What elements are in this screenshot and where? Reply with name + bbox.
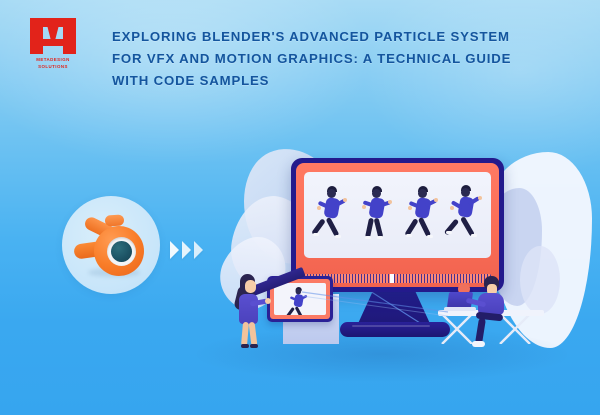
preview-screen-display — [274, 283, 326, 315]
runner-hand-front — [343, 198, 347, 202]
runner-leg-back — [286, 307, 295, 315]
blender-icon-eye — [111, 241, 132, 262]
logo-wordmark-line1: METADESIGN — [22, 57, 84, 64]
character-designer — [228, 274, 272, 352]
logo-stem-left — [30, 18, 43, 54]
animation-runner-2 — [363, 186, 397, 246]
runner-hand-front — [478, 196, 482, 200]
runner-head — [327, 189, 336, 198]
logo-stem-right — [63, 18, 76, 54]
blender-icon — [74, 212, 148, 278]
designer-hand — [265, 298, 271, 304]
runner-hand-back — [317, 206, 321, 210]
banner-title: EXPLORING BLENDER'S ADVANCED PARTICLE SY… — [112, 26, 512, 92]
runner-shoe-front — [427, 235, 433, 238]
runner-leg-front — [326, 217, 340, 237]
designer-shoe-left — [241, 344, 249, 348]
monitor-base-highlight — [352, 325, 430, 327]
runner-hand-front — [388, 200, 392, 204]
runner-head — [418, 189, 427, 198]
runner-hand-back — [408, 206, 412, 210]
logo-bar-middle — [42, 39, 64, 46]
blog-banner: METADESIGN SOLUTIONS EXPLORING BLENDER'S… — [0, 0, 600, 415]
runner-shoe-back — [365, 236, 371, 239]
chevron-right-icon-2 — [182, 241, 191, 259]
preview-runner — [290, 287, 311, 315]
designer-face — [245, 280, 256, 293]
logo-wordmark: METADESIGN SOLUTIONS — [22, 57, 84, 71]
runner-shoe-back — [406, 234, 412, 237]
chevron-right-icon-3 — [194, 241, 203, 259]
timeline-playhead[interactable] — [390, 274, 394, 283]
flow-arrows — [170, 241, 203, 259]
banner-header: METADESIGN SOLUTIONS EXPLORING BLENDER'S… — [0, 0, 600, 110]
character-developer — [468, 276, 520, 348]
runner-torso — [368, 197, 385, 219]
blender-logo-badge — [62, 196, 160, 294]
runner-hand-front — [434, 198, 438, 202]
main-monitor — [291, 158, 504, 292]
animation-runner-3 — [409, 186, 443, 246]
blender-icon-tip — [105, 214, 125, 226]
designer-shoe-right — [250, 344, 258, 348]
designer-leg-right — [249, 322, 258, 347]
runner-shoe-front — [471, 234, 477, 237]
monitor-screen — [304, 172, 491, 258]
runner-leg-front — [295, 306, 304, 315]
developer-shoe — [472, 341, 485, 347]
runner-hand-back — [362, 205, 366, 209]
logo-monogram-icon — [29, 18, 77, 54]
designer-leg-left — [241, 322, 249, 346]
decor-blob-periwinkle-small — [520, 246, 560, 314]
runner-hand-back — [450, 206, 454, 210]
runner-head — [461, 188, 470, 197]
runner-shoe-front — [335, 235, 341, 238]
animation-runner-1 — [318, 186, 352, 246]
brand-logo[interactable]: METADESIGN SOLUTIONS — [22, 18, 84, 74]
runner-shoe-back — [446, 231, 452, 234]
runner-head — [372, 189, 381, 198]
logo-wordmark-line2: SOLUTIONS — [22, 64, 84, 71]
runner-shoe-back — [313, 233, 319, 236]
runner-shoe-front — [377, 236, 383, 239]
chevron-right-icon-1 — [170, 241, 179, 259]
animation-runner-4 — [452, 185, 486, 245]
designer-dress — [239, 294, 258, 324]
